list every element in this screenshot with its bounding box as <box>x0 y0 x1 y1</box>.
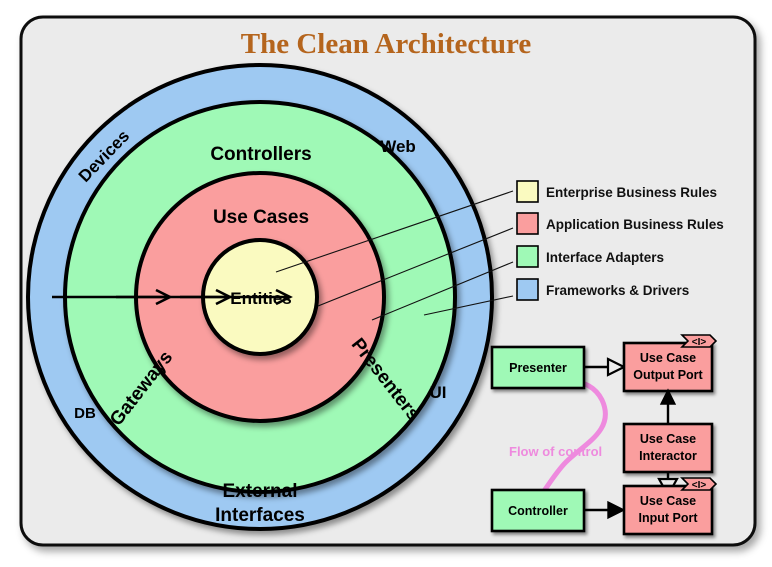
legend-swatch-application <box>517 213 538 234</box>
ring-label-external-line2: Interfaces <box>215 505 305 526</box>
diagram-canvas: The Clean Architecture Devices Web DB UI… <box>0 0 772 567</box>
legend-swatch-frameworks <box>517 279 538 300</box>
legend-swatch-enterprise <box>517 181 538 202</box>
box-controller-label: Controller <box>508 504 568 518</box>
box-use-case-output-port[interactable]: Use Case Output Port <I> <box>624 335 716 391</box>
ring-label-ui: UI <box>430 383 447 402</box>
box-presenter[interactable]: Presenter <box>492 347 584 388</box>
legend-label-enterprise: Enterprise Business Rules <box>546 185 717 200</box>
box-use-case-output-port-line2: Output Port <box>633 368 703 382</box>
ring-label-use-cases: Use Cases <box>213 207 309 228</box>
box-presenter-label: Presenter <box>509 361 567 375</box>
box-use-case-interactor[interactable]: Use Case Interactor <box>624 424 712 472</box>
box-controller[interactable]: Controller <box>492 490 584 531</box>
box-use-case-interactor-line1: Use Case <box>640 432 696 446</box>
box-use-case-input-port-line2: Input Port <box>638 511 698 525</box>
legend-swatch-interface-adapters <box>517 246 538 267</box>
interface-tag-output-port: <I> <box>692 337 707 348</box>
legend-label-interface-adapters: Interface Adapters <box>546 250 664 265</box>
flow-of-control-label: Flow of control <box>509 444 602 459</box>
box-use-case-output-port-line1: Use Case <box>640 351 696 365</box>
box-use-case-input-port[interactable]: Use Case Input Port <I> <box>624 478 716 534</box>
legend-item-enterprise-business-rules[interactable]: Enterprise Business Rules <box>517 181 717 202</box>
page-title: The Clean Architecture <box>241 28 532 60</box>
interface-tag-input-port: <I> <box>692 480 707 491</box>
legend-label-frameworks: Frameworks & Drivers <box>546 283 689 298</box>
ring-label-web: Web <box>380 137 416 156</box>
legend-label-application: Application Business Rules <box>546 217 724 232</box>
legend-item-application-business-rules[interactable]: Application Business Rules <box>517 213 724 234</box>
box-use-case-input-port-line1: Use Case <box>640 494 696 508</box>
ring-label-db: DB <box>74 405 96 422</box>
ring-label-controllers: Controllers <box>210 144 311 165</box>
box-use-case-interactor-line2: Interactor <box>639 449 697 463</box>
ring-label-external-line1: External <box>223 481 298 502</box>
